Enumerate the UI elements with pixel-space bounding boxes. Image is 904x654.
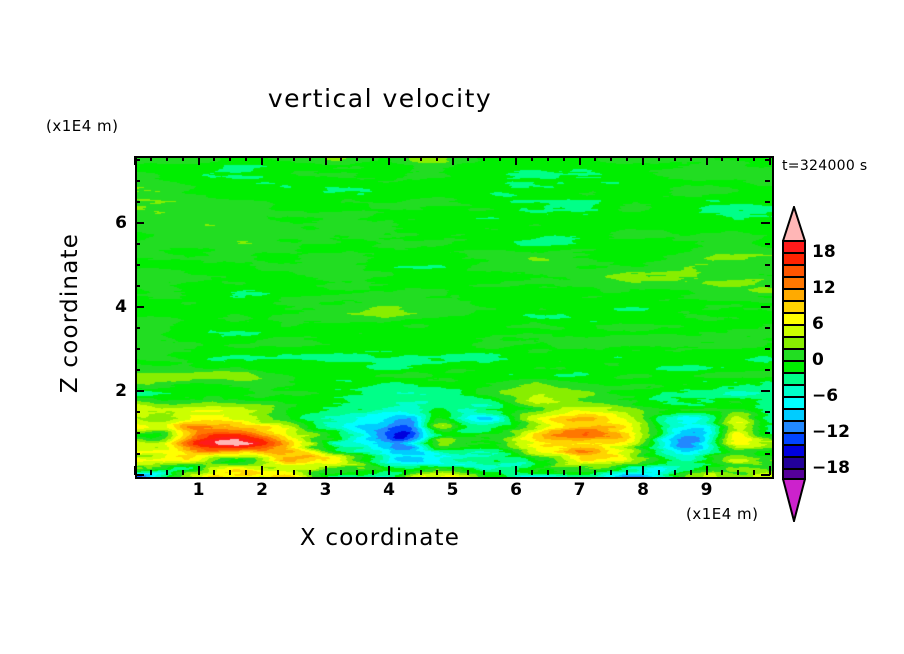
page-title: vertical velocity bbox=[0, 84, 760, 113]
x-tick bbox=[499, 470, 501, 475]
x-tick-top bbox=[706, 156, 708, 165]
x-tick bbox=[690, 470, 692, 475]
x-tick-top bbox=[340, 156, 342, 161]
x-tick-top bbox=[325, 156, 327, 165]
x-tick bbox=[325, 466, 327, 475]
contour-plot-area bbox=[135, 156, 774, 479]
y-tick bbox=[135, 432, 140, 434]
colorbar-separator bbox=[782, 372, 806, 374]
x-tick bbox=[547, 470, 549, 475]
x-tick-label: 2 bbox=[256, 480, 268, 500]
x-tick-top bbox=[467, 156, 469, 161]
y-tick bbox=[135, 285, 140, 287]
y-tick-label: 6 bbox=[101, 213, 127, 233]
x-tick bbox=[404, 470, 406, 475]
colorbar-separator bbox=[782, 264, 806, 266]
y-tick-right bbox=[765, 369, 770, 371]
colorbar-separator bbox=[782, 432, 806, 434]
y-tick-right bbox=[761, 306, 770, 308]
x-tick bbox=[626, 470, 628, 475]
y-tick bbox=[135, 453, 140, 455]
x-tick-label: 4 bbox=[383, 480, 395, 500]
x-tick-top bbox=[642, 156, 644, 165]
x-tick-top bbox=[737, 156, 739, 161]
x-tick bbox=[356, 470, 358, 475]
y-tick-right bbox=[761, 222, 770, 224]
y-tick bbox=[135, 390, 144, 392]
colorbar-separator bbox=[782, 300, 806, 302]
colorbar-separator bbox=[782, 360, 806, 362]
x-tick bbox=[213, 470, 215, 475]
colorbar-separator bbox=[782, 444, 806, 446]
x-tick-top bbox=[213, 156, 215, 161]
x-tick bbox=[293, 470, 295, 475]
x-tick bbox=[753, 470, 755, 475]
x-tick-top bbox=[198, 156, 200, 165]
colorbar-separator bbox=[782, 312, 806, 314]
x-tick-top bbox=[658, 156, 660, 161]
colorbar-separator bbox=[782, 348, 806, 350]
x-tick-top bbox=[261, 156, 263, 165]
y-tick-right bbox=[761, 474, 770, 476]
y-tick-right bbox=[761, 390, 770, 392]
y-tick-right bbox=[765, 327, 770, 329]
colorbar-separator bbox=[782, 324, 806, 326]
x-tick-top bbox=[674, 156, 676, 161]
vertical-velocity-field bbox=[137, 158, 772, 477]
x-tick-top bbox=[404, 156, 406, 161]
x-tick-top bbox=[499, 156, 501, 161]
x-tick bbox=[467, 470, 469, 475]
x-tick bbox=[563, 470, 565, 475]
colorbar-separator bbox=[782, 276, 806, 278]
x-axis-unit-label: (x1E4 m) bbox=[686, 505, 759, 523]
x-tick bbox=[340, 470, 342, 475]
x-tick-top bbox=[356, 156, 358, 161]
colorbar-tick-label: 6 bbox=[812, 314, 824, 334]
y-axis-unit-label: (x1E4 m) bbox=[46, 117, 119, 135]
colorbar-tick-label: −12 bbox=[812, 422, 850, 442]
x-tick-top bbox=[531, 156, 533, 161]
x-tick-label: 1 bbox=[193, 480, 205, 500]
colorbar-separator bbox=[782, 240, 806, 242]
x-tick-top bbox=[182, 156, 184, 161]
colorbar-tick-label: 18 bbox=[812, 242, 836, 262]
x-tick-top bbox=[483, 156, 485, 161]
colorbar-over-arrow-icon bbox=[782, 206, 806, 242]
x-tick-top bbox=[579, 156, 581, 165]
x-tick bbox=[642, 466, 644, 475]
y-tick bbox=[135, 306, 144, 308]
y-tick bbox=[135, 327, 140, 329]
x-tick bbox=[579, 466, 581, 475]
x-tick bbox=[452, 466, 454, 475]
x-tick-top bbox=[721, 156, 723, 161]
x-tick bbox=[166, 470, 168, 475]
colorbar-tick-label: 12 bbox=[812, 278, 836, 298]
x-tick bbox=[388, 466, 390, 475]
x-tick-top bbox=[753, 156, 755, 161]
colorbar-separator bbox=[782, 396, 806, 398]
colorbar-tick-label: −18 bbox=[812, 458, 850, 478]
colorbar-separator bbox=[782, 420, 806, 422]
x-tick bbox=[531, 470, 533, 475]
x-tick bbox=[436, 470, 438, 475]
y-tick-right bbox=[765, 348, 770, 350]
y-tick bbox=[135, 348, 140, 350]
x-tick bbox=[150, 470, 152, 475]
x-tick bbox=[229, 470, 231, 475]
x-tick-label: 3 bbox=[320, 480, 332, 500]
y-axis-title: Z coordinate bbox=[57, 183, 83, 443]
x-tick-top bbox=[388, 156, 390, 165]
x-tick-top bbox=[293, 156, 295, 161]
x-tick-top bbox=[626, 156, 628, 161]
colorbar-under-arrow-icon bbox=[782, 478, 806, 522]
x-tick bbox=[658, 470, 660, 475]
x-tick bbox=[706, 466, 708, 475]
y-tick bbox=[135, 474, 144, 476]
x-tick bbox=[372, 470, 374, 475]
x-tick-top bbox=[420, 156, 422, 161]
x-tick-label: 8 bbox=[637, 480, 649, 500]
x-tick-top bbox=[309, 156, 311, 161]
colorbar-separator bbox=[782, 456, 806, 458]
colorbar-tick-label: −6 bbox=[812, 386, 838, 406]
y-tick bbox=[135, 369, 140, 371]
colorbar-separator bbox=[782, 468, 806, 470]
x-tick-top bbox=[452, 156, 454, 165]
colorbar-tick-label: 0 bbox=[812, 350, 824, 370]
x-tick-top bbox=[690, 156, 692, 161]
x-tick bbox=[594, 470, 596, 475]
x-tick bbox=[721, 470, 723, 475]
y-tick bbox=[135, 180, 140, 182]
x-tick bbox=[610, 470, 612, 475]
y-tick-right bbox=[765, 453, 770, 455]
x-tick-label: 9 bbox=[701, 480, 713, 500]
x-tick bbox=[277, 470, 279, 475]
colorbar-separator bbox=[782, 408, 806, 410]
y-tick-right bbox=[765, 411, 770, 413]
x-tick-top bbox=[436, 156, 438, 161]
y-tick-right bbox=[765, 432, 770, 434]
x-axis-title: X coordinate bbox=[0, 525, 760, 551]
x-tick-top bbox=[229, 156, 231, 161]
colorbar-separator bbox=[782, 252, 806, 254]
y-tick-right bbox=[765, 264, 770, 266]
y-tick bbox=[135, 159, 140, 161]
x-tick-label: 5 bbox=[447, 480, 459, 500]
x-tick-top bbox=[594, 156, 596, 161]
colorbar-separator bbox=[782, 336, 806, 338]
x-tick bbox=[309, 470, 311, 475]
y-tick-label: 4 bbox=[101, 297, 127, 317]
x-tick-top bbox=[610, 156, 612, 161]
y-tick bbox=[135, 222, 144, 224]
x-tick bbox=[198, 466, 200, 475]
y-tick bbox=[135, 201, 140, 203]
time-annotation: t=324000 s bbox=[782, 158, 867, 174]
y-tick-right bbox=[765, 285, 770, 287]
y-tick-right bbox=[765, 159, 770, 161]
x-tick-top bbox=[563, 156, 565, 161]
x-tick bbox=[261, 466, 263, 475]
y-tick bbox=[135, 411, 140, 413]
y-tick-right bbox=[765, 201, 770, 203]
x-tick-top bbox=[166, 156, 168, 161]
x-tick bbox=[674, 470, 676, 475]
x-tick-top bbox=[150, 156, 152, 161]
x-tick-top bbox=[245, 156, 247, 161]
x-tick bbox=[420, 470, 422, 475]
x-tick-top bbox=[515, 156, 517, 165]
x-tick bbox=[245, 470, 247, 475]
x-tick bbox=[515, 466, 517, 475]
x-tick-label: 6 bbox=[510, 480, 522, 500]
colorbar[interactable] bbox=[782, 240, 806, 480]
x-tick-top bbox=[547, 156, 549, 161]
colorbar-separator bbox=[782, 384, 806, 386]
y-tick-right bbox=[765, 243, 770, 245]
x-tick-label: 7 bbox=[574, 480, 586, 500]
y-tick bbox=[135, 243, 140, 245]
y-tick-right bbox=[765, 180, 770, 182]
x-tick-top bbox=[277, 156, 279, 161]
y-tick-label: 2 bbox=[101, 381, 127, 401]
x-tick bbox=[737, 470, 739, 475]
colorbar-separator bbox=[782, 288, 806, 290]
x-tick bbox=[182, 470, 184, 475]
y-tick bbox=[135, 264, 140, 266]
x-tick bbox=[483, 470, 485, 475]
x-tick-top bbox=[372, 156, 374, 161]
